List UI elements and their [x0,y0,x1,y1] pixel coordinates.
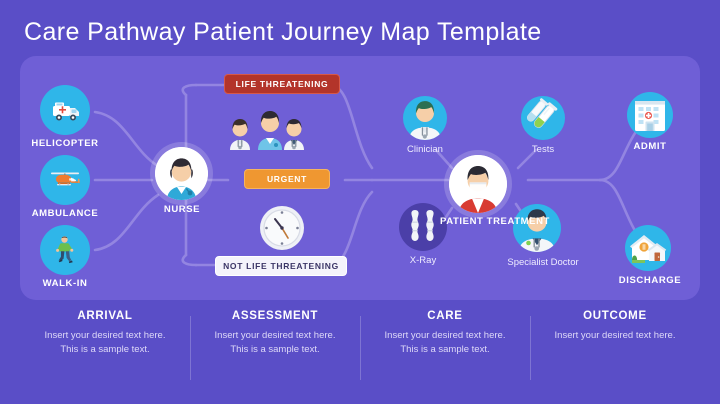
page-title: Care Pathway Patient Journey Map Templat… [24,18,542,47]
badge-life-threatening[interactable]: LIFE THREATENING [224,74,340,94]
nurse-label: NURSE [140,205,224,216]
legend-body-outcome: Insert your desired text here. [555,329,676,343]
care-label-clinician: Clinician [385,145,465,156]
legend-title-assessment: ASSESSMENT [232,310,318,322]
medical-team-icon [228,104,306,150]
outcome-label-discharge: DISCHARGE [608,276,692,287]
badge-urgent[interactable]: URGENT [244,169,330,189]
arrival-label-walk-in: WALK-IN [15,279,115,290]
outcome-label-admit: ADMIT [610,142,690,153]
home-icon [625,225,671,271]
legend-column-arrival: ARRIVAL Insert your desired text here. T… [20,310,190,390]
clinician-icon [403,96,447,140]
care-label-tests: Tests [503,145,583,156]
badge-not-life-threatening[interactable]: NOT LIFE THREATENING [215,256,347,276]
legend-body-assessment: Insert your desired text here. This is a… [208,329,343,357]
patient-treatment-icon [449,155,507,213]
diagram-panel [20,56,700,300]
legend-title-outcome: OUTCOME [583,310,647,322]
legend-column-care: CARE Insert your desired text here. This… [360,310,530,390]
test-tube-icon [521,96,565,140]
legend-body-care: Insert your desired text here. This is a… [378,329,513,357]
legend-body-arrival: Insert your desired text here. This is a… [38,329,173,357]
walking-person-icon [40,225,90,275]
care-label-specialist-doctor: Specialist Doctor [503,257,583,269]
legend-row: ARRIVAL Insert your desired text here. T… [20,310,700,390]
arrival-label-ambulance: AMBULANCE [15,209,115,220]
legend-title-arrival: ARRIVAL [77,310,132,322]
clock-icon [259,205,305,251]
arrival-label-helicopter: HELICOPTER [15,139,115,150]
legend-title-care: CARE [427,310,462,322]
nurse-avatar-icon [155,147,208,200]
legend-column-outcome: OUTCOME Insert your desired text here. [530,310,700,390]
legend-column-assessment: ASSESSMENT Insert your desired text here… [190,310,360,390]
care-label-x-ray: X-Ray [383,256,463,267]
patient-treatment-label: PATIENT TREATMENT [440,216,516,229]
ambulance-icon [40,85,90,135]
hospital-building-icon [627,92,673,138]
slide-canvas: Care Pathway Patient Journey Map Templat… [0,0,720,404]
helicopter-icon [40,155,90,205]
specialist-doctor-icon [513,204,561,252]
